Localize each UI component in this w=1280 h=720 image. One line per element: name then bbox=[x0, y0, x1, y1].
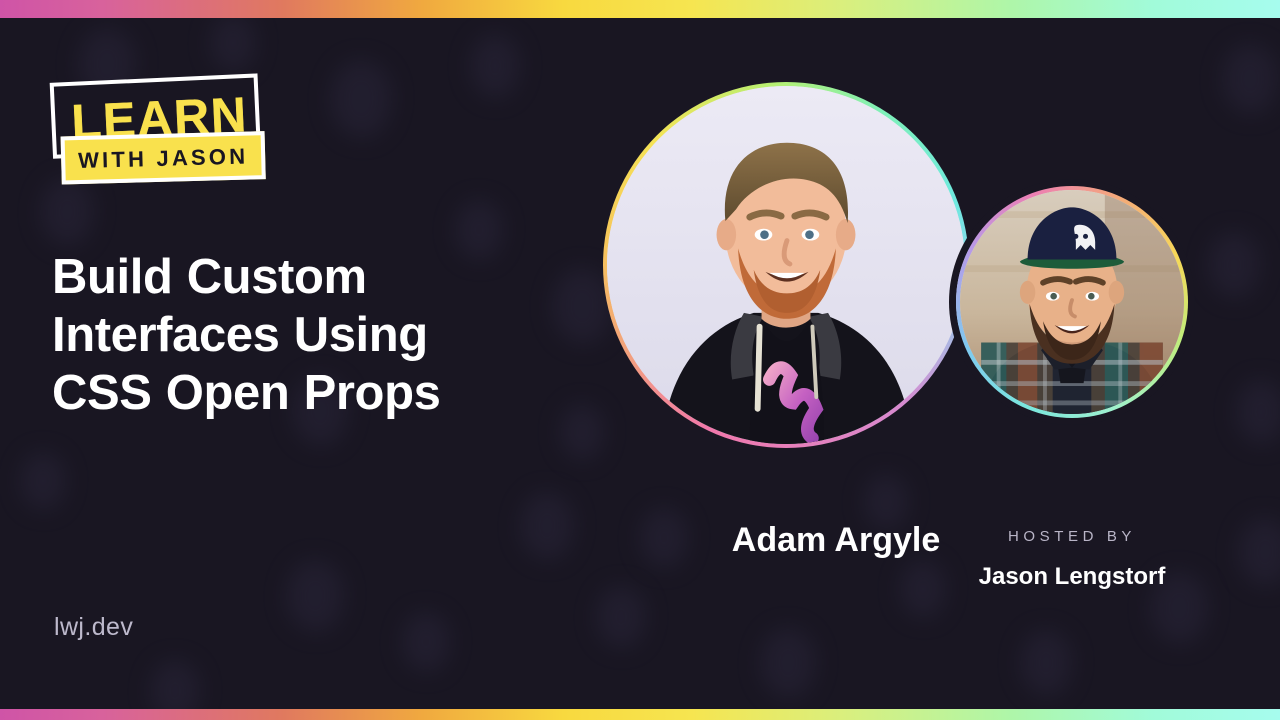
host-avatar bbox=[956, 186, 1188, 418]
hosted-by-label: HOSTED BY bbox=[952, 528, 1192, 545]
host-block: HOSTED BY Jason Lengstorf bbox=[952, 528, 1192, 591]
people-group: Adam Argyle HOSTED BY Jason Lengstorf bbox=[0, 0, 1280, 720]
host-photo bbox=[960, 190, 1184, 414]
guest-avatar bbox=[603, 82, 969, 448]
host-portrait-illustration bbox=[960, 190, 1184, 414]
top-accent-bar bbox=[0, 0, 1280, 18]
episode-card: LEARN WITH JASON Build Custom Interfaces… bbox=[0, 0, 1280, 720]
guest-portrait-illustration bbox=[607, 86, 965, 444]
guest-photo bbox=[607, 86, 965, 444]
guest-name: Adam Argyle bbox=[676, 521, 996, 560]
host-name: Jason Lengstorf bbox=[952, 563, 1192, 591]
bottom-accent-bar bbox=[0, 709, 1280, 720]
